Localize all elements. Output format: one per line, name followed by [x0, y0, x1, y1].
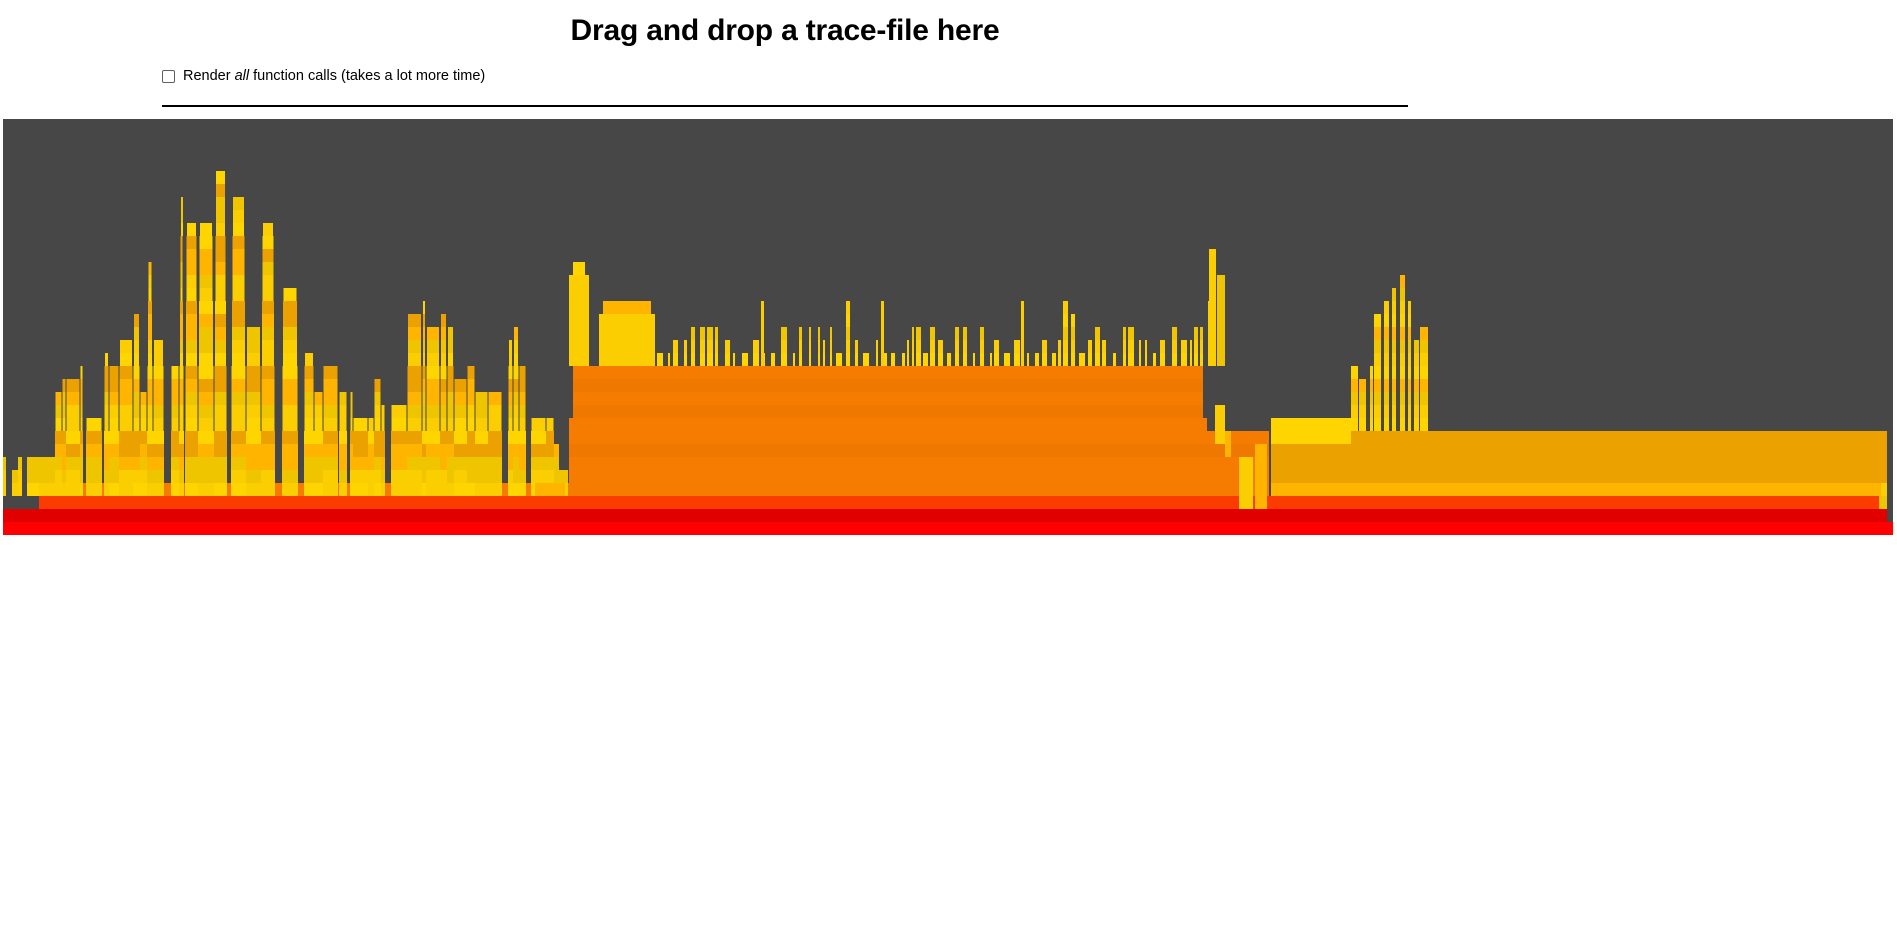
flame-frame[interactable]: [1200, 340, 1203, 353]
flame-frame[interactable]: [67, 392, 80, 405]
flame-frame[interactable]: [1408, 353, 1411, 366]
flame-frame[interactable]: [1400, 340, 1405, 353]
flame-frame[interactable]: [180, 418, 184, 431]
flame-frame[interactable]: [509, 405, 513, 418]
flame-frame[interactable]: [1359, 418, 1366, 431]
flame-frame[interactable]: [891, 353, 895, 366]
flame-frame[interactable]: [1384, 353, 1389, 366]
flame-frame[interactable]: [455, 379, 467, 392]
flame-frame[interactable]: [733, 353, 735, 366]
flame-frame[interactable]: [1400, 275, 1405, 288]
flame-frame[interactable]: [119, 457, 133, 470]
flame-frame[interactable]: [3, 509, 1887, 522]
flame-frame[interactable]: [3, 483, 6, 496]
flame-frame[interactable]: [62, 444, 66, 457]
flame-frame[interactable]: [3, 470, 6, 483]
flame-frame[interactable]: [1359, 405, 1366, 418]
flame-frame[interactable]: [339, 470, 347, 483]
flame-frame[interactable]: [1225, 431, 1231, 457]
flame-frame[interactable]: [799, 353, 802, 366]
flame-frame[interactable]: [426, 457, 440, 470]
flame-frame[interactable]: [1160, 353, 1165, 366]
flame-frame[interactable]: [247, 405, 261, 418]
flame-frame[interactable]: [105, 353, 108, 366]
flame-frame[interactable]: [684, 340, 687, 353]
flame-frame[interactable]: [186, 353, 197, 366]
flame-frame[interactable]: [448, 418, 454, 431]
flame-frame[interactable]: [216, 210, 225, 223]
flame-frame[interactable]: [923, 353, 928, 366]
flame-frame[interactable]: [1271, 444, 1887, 457]
flame-frame[interactable]: [1414, 366, 1419, 379]
flame-frame[interactable]: [232, 405, 246, 418]
flame-frame[interactable]: [262, 392, 275, 405]
flame-frame[interactable]: [1063, 301, 1068, 314]
flame-frame[interactable]: [930, 327, 935, 340]
flame-frame[interactable]: [324, 379, 338, 392]
flame-frame[interactable]: [141, 405, 147, 418]
flame-frame[interactable]: [930, 340, 935, 353]
flame-frame[interactable]: [314, 483, 323, 496]
flame-frame[interactable]: [381, 483, 385, 496]
flame-frame[interactable]: [109, 431, 119, 444]
flame-frame[interactable]: [140, 444, 147, 457]
flame-frame[interactable]: [353, 444, 368, 457]
flame-frame[interactable]: [368, 483, 374, 496]
flame-frame[interactable]: [62, 431, 66, 444]
flame-frame[interactable]: [180, 405, 184, 418]
flame-frame[interactable]: [134, 379, 140, 392]
flame-frame[interactable]: [315, 418, 323, 431]
flame-frame[interactable]: [62, 457, 66, 470]
flame-frame[interactable]: [916, 353, 921, 366]
flame-frame[interactable]: [392, 418, 407, 431]
flame-frame[interactable]: [1172, 340, 1177, 353]
flame-frame[interactable]: [1400, 418, 1405, 431]
flame-frame[interactable]: [1392, 327, 1396, 340]
flame-frame[interactable]: [181, 249, 183, 262]
flame-frame[interactable]: [247, 392, 261, 405]
flame-frame[interactable]: [392, 405, 407, 418]
flame-frame[interactable]: [141, 392, 147, 405]
flame-frame[interactable]: [475, 457, 488, 470]
flame-frame[interactable]: [323, 444, 338, 457]
flame-frame[interactable]: [314, 457, 323, 470]
flame-frame[interactable]: [180, 327, 183, 340]
flame-frame[interactable]: [532, 418, 546, 431]
flame-frame[interactable]: [324, 418, 338, 431]
flame-frame[interactable]: [186, 379, 198, 392]
flame-frame[interactable]: [455, 392, 467, 405]
flame-frame[interactable]: [282, 470, 298, 483]
flame-frame[interactable]: [423, 314, 425, 327]
flame-frame[interactable]: [154, 366, 164, 379]
flame-frame[interactable]: [171, 470, 179, 483]
flame-frame[interactable]: [1392, 353, 1396, 366]
flame-frame[interactable]: [180, 379, 184, 392]
flame-frame[interactable]: [232, 379, 246, 392]
flame-frame[interactable]: [902, 353, 905, 366]
flame-frame[interactable]: [1139, 353, 1141, 366]
flame-frame[interactable]: [1145, 340, 1147, 353]
flame-frame[interactable]: [1374, 405, 1381, 418]
flame-frame[interactable]: [86, 470, 102, 483]
flame-frame[interactable]: [508, 470, 513, 483]
flame-frame[interactable]: [1063, 353, 1068, 366]
flame-frame[interactable]: [569, 444, 1269, 457]
flame-frame[interactable]: [1400, 301, 1405, 314]
flame-frame[interactable]: [673, 353, 678, 366]
flame-frame[interactable]: [179, 470, 184, 483]
flame-frame[interactable]: [973, 353, 975, 366]
flame-frame[interactable]: [180, 314, 183, 327]
flame-frame[interactable]: [907, 340, 909, 353]
flame-frame[interactable]: [86, 444, 102, 457]
flame-frame[interactable]: [1408, 392, 1411, 405]
flame-frame[interactable]: [1071, 327, 1075, 340]
flame-frame[interactable]: [315, 392, 323, 405]
flame-frame[interactable]: [573, 405, 1203, 418]
flame-frame[interactable]: [324, 392, 338, 405]
flame-frame[interactable]: [1414, 405, 1419, 418]
flame-frame[interactable]: [66, 444, 80, 457]
flame-frame[interactable]: [422, 470, 426, 483]
flame-frame[interactable]: [1370, 366, 1373, 379]
flame-frame[interactable]: [1374, 366, 1381, 379]
flame-frame[interactable]: [447, 431, 454, 444]
flame-frame[interactable]: [1400, 379, 1405, 392]
flame-frame[interactable]: [1123, 340, 1126, 353]
flame-frame[interactable]: [955, 353, 959, 366]
flame-frame[interactable]: [1181, 340, 1187, 353]
flame-frame[interactable]: [216, 275, 226, 288]
flame-frame[interactable]: [1058, 340, 1061, 353]
flame-frame[interactable]: [742, 353, 748, 366]
flame-frame[interactable]: [1351, 405, 1358, 418]
flame-frame[interactable]: [855, 353, 858, 366]
flame-frame[interactable]: [63, 392, 66, 405]
flame-frame[interactable]: [547, 418, 554, 431]
flame-frame[interactable]: [700, 353, 705, 366]
flame-frame[interactable]: [408, 392, 422, 405]
flame-frame[interactable]: [423, 327, 425, 340]
flame-frame[interactable]: [246, 457, 261, 470]
flame-frame[interactable]: [374, 444, 381, 457]
flame-frame[interactable]: [1027, 353, 1029, 366]
flame-frame[interactable]: [818, 340, 820, 353]
flame-frame[interactable]: [375, 405, 381, 418]
flame-frame[interactable]: [247, 340, 260, 353]
flame-frame[interactable]: [147, 470, 153, 483]
flame-frame[interactable]: [187, 236, 197, 249]
flame-frame[interactable]: [1194, 327, 1198, 340]
flame-frame[interactable]: [216, 171, 225, 184]
flame-frame[interactable]: [381, 457, 385, 470]
flame-frame[interactable]: [1153, 353, 1156, 366]
flame-frame[interactable]: [427, 379, 440, 392]
flame-frame[interactable]: [368, 470, 374, 483]
flame-frame[interactable]: [440, 470, 447, 483]
flame-frame[interactable]: [1374, 392, 1381, 405]
flame-frame[interactable]: [1414, 340, 1419, 353]
flame-frame[interactable]: [1095, 340, 1100, 353]
flame-frame[interactable]: [519, 431, 526, 444]
flame-frame[interactable]: [391, 431, 407, 444]
flame-frame[interactable]: [282, 444, 298, 457]
flame-frame[interactable]: [468, 405, 475, 418]
flame-frame[interactable]: [180, 366, 184, 379]
flame-frame[interactable]: [282, 457, 298, 470]
flame-frame[interactable]: [963, 327, 967, 340]
flame-frame[interactable]: [199, 301, 213, 314]
flame-frame[interactable]: [199, 379, 214, 392]
flame-frame[interactable]: [467, 457, 475, 470]
flame-frame[interactable]: [440, 444, 447, 457]
flame-frame[interactable]: [368, 431, 374, 444]
flame-frame[interactable]: [1351, 366, 1358, 379]
flame-frame[interactable]: [846, 301, 850, 314]
flame-frame[interactable]: [1408, 418, 1411, 431]
flame-frame[interactable]: [284, 288, 297, 301]
flame-frame[interactable]: [519, 457, 526, 470]
flame-frame[interactable]: [353, 457, 368, 470]
flame-frame[interactable]: [938, 340, 943, 353]
flame-frame[interactable]: [246, 444, 261, 457]
flame-frame[interactable]: [186, 301, 197, 314]
flame-frame[interactable]: [509, 366, 513, 379]
flame-frame[interactable]: [427, 340, 439, 353]
flame-frame[interactable]: [185, 444, 198, 457]
flame-frame[interactable]: [133, 431, 140, 444]
flame-frame[interactable]: [707, 353, 713, 366]
flame-frame[interactable]: [200, 262, 213, 275]
flame-frame[interactable]: [215, 405, 227, 418]
flame-frame[interactable]: [104, 483, 109, 496]
flame-frame[interactable]: [263, 223, 273, 236]
flame-frame[interactable]: [231, 444, 246, 457]
flame-frame[interactable]: [809, 327, 811, 340]
flame-frame[interactable]: [282, 483, 298, 496]
flame-frame[interactable]: [199, 366, 214, 379]
flame-frame[interactable]: [468, 366, 475, 379]
flame-frame[interactable]: [185, 470, 198, 483]
flame-frame[interactable]: [55, 470, 62, 483]
flame-frame[interactable]: [573, 366, 1203, 379]
flame-frame[interactable]: [283, 353, 297, 366]
flame-frame[interactable]: [603, 301, 651, 314]
flame-frame[interactable]: [846, 353, 850, 366]
flame-frame[interactable]: [323, 483, 338, 496]
flame-frame[interactable]: [668, 353, 670, 366]
flame-frame[interactable]: [441, 379, 447, 392]
flame-frame[interactable]: [350, 457, 353, 470]
flame-frame[interactable]: [148, 353, 152, 366]
flame-frame[interactable]: [673, 340, 678, 353]
flame-frame[interactable]: [140, 483, 147, 496]
flame-frame[interactable]: [1420, 392, 1428, 405]
flame-frame[interactable]: [154, 353, 163, 366]
flame-frame[interactable]: [519, 483, 526, 496]
flame-frame[interactable]: [199, 327, 213, 340]
flame-frame[interactable]: [216, 262, 226, 275]
flame-frame[interactable]: [846, 327, 850, 340]
flame-frame[interactable]: [133, 483, 140, 496]
flame-frame[interactable]: [233, 236, 245, 249]
flame-frame[interactable]: [304, 444, 314, 457]
flame-frame[interactable]: [340, 418, 347, 431]
flame-frame[interactable]: [1255, 444, 1267, 509]
flame-frame[interactable]: [120, 392, 133, 405]
flame-frame[interactable]: [475, 483, 488, 496]
flame-frame[interactable]: [56, 418, 62, 431]
flame-frame[interactable]: [181, 288, 183, 301]
flame-frame[interactable]: [700, 327, 705, 340]
flame-frame[interactable]: [1370, 405, 1373, 418]
flame-frame[interactable]: [514, 392, 519, 405]
flame-frame[interactable]: [476, 392, 488, 405]
flame-frame[interactable]: [1079, 353, 1085, 366]
flame-frame[interactable]: [559, 470, 568, 483]
flame-frame[interactable]: [448, 327, 453, 340]
flame-frame[interactable]: [912, 340, 914, 353]
flame-frame[interactable]: [120, 418, 133, 431]
flame-frame[interactable]: [104, 470, 109, 483]
flame-frame[interactable]: [198, 444, 214, 457]
flame-frame[interactable]: [427, 392, 440, 405]
flame-frame[interactable]: [1400, 405, 1405, 418]
flame-frame[interactable]: [181, 210, 183, 223]
flame-frame[interactable]: [198, 431, 214, 444]
flame-frame[interactable]: [881, 301, 884, 366]
flame-frame[interactable]: [391, 457, 407, 470]
flame-frame[interactable]: [86, 431, 102, 444]
flame-frame[interactable]: [1384, 418, 1389, 431]
flame-frame[interactable]: [1392, 288, 1396, 301]
flame-frame[interactable]: [200, 223, 212, 236]
flame-frame[interactable]: [1408, 327, 1411, 340]
flame-frame[interactable]: [105, 392, 109, 405]
flame-frame[interactable]: [340, 392, 347, 405]
flame-frame[interactable]: [304, 483, 314, 496]
flame-frame[interactable]: [233, 223, 244, 236]
flame-frame[interactable]: [514, 405, 519, 418]
flame-frame[interactable]: [55, 444, 62, 457]
flame-frame[interactable]: [1128, 327, 1134, 340]
flame-frame[interactable]: [199, 353, 213, 366]
flame-frame[interactable]: [263, 262, 274, 275]
flame-frame[interactable]: [423, 353, 425, 366]
flame-frame[interactable]: [514, 418, 519, 431]
flame-frame[interactable]: [1384, 340, 1389, 353]
flame-frame[interactable]: [467, 470, 475, 483]
flame-frame[interactable]: [1088, 353, 1092, 366]
flame-frame[interactable]: [427, 418, 440, 431]
flame-frame[interactable]: [109, 457, 119, 470]
flame-frame[interactable]: [488, 483, 502, 496]
flame-frame[interactable]: [66, 483, 80, 496]
flame-frame[interactable]: [180, 392, 184, 405]
flame-frame[interactable]: [179, 444, 184, 457]
flame-frame[interactable]: [947, 353, 951, 366]
flame-frame[interactable]: [488, 457, 502, 470]
flame-frame[interactable]: [440, 431, 447, 444]
flame-frame[interactable]: [691, 353, 695, 366]
flame-frame[interactable]: [916, 340, 921, 353]
flame-frame[interactable]: [262, 418, 275, 431]
flame-frame[interactable]: [263, 288, 274, 301]
flame-frame[interactable]: [62, 470, 66, 483]
flame-frame[interactable]: [154, 379, 164, 392]
flame-frame[interactable]: [489, 392, 502, 405]
flame-frame[interactable]: [513, 457, 519, 470]
flame-frame[interactable]: [233, 275, 245, 288]
flame-frame[interactable]: [305, 353, 313, 366]
flame-frame[interactable]: [134, 340, 139, 353]
flame-frame[interactable]: [153, 483, 164, 496]
flame-frame[interactable]: [231, 457, 246, 470]
flame-frame[interactable]: [81, 366, 83, 379]
flame-frame[interactable]: [1400, 327, 1405, 340]
flame-frame[interactable]: [66, 457, 80, 470]
flame-frame[interactable]: [172, 405, 179, 418]
flame-frame[interactable]: [232, 301, 245, 314]
flame-frame[interactable]: [56, 405, 62, 418]
flame-frame[interactable]: [1351, 392, 1358, 405]
flame-frame[interactable]: [153, 470, 164, 483]
flame-frame[interactable]: [120, 379, 133, 392]
flame-frame[interactable]: [80, 457, 83, 470]
flame-frame[interactable]: [369, 418, 374, 431]
flame-frame[interactable]: [846, 340, 850, 353]
flame-frame[interactable]: [938, 353, 943, 366]
flame-frame[interactable]: [263, 275, 274, 288]
flame-frame[interactable]: [980, 327, 984, 340]
flame-frame[interactable]: [351, 392, 353, 405]
flame-frame[interactable]: [1271, 431, 1351, 444]
flame-frame[interactable]: [546, 431, 554, 444]
flame-frame[interactable]: [440, 483, 447, 496]
flame-frame[interactable]: [569, 470, 1269, 483]
flame-frame[interactable]: [350, 483, 353, 496]
flame-frame[interactable]: [147, 431, 153, 444]
flame-frame[interactable]: [422, 483, 426, 496]
flame-frame[interactable]: [214, 470, 227, 483]
flame-frame[interactable]: [1384, 327, 1389, 340]
flame-frame[interactable]: [315, 405, 323, 418]
flame-frame[interactable]: [339, 483, 347, 496]
flame-frame[interactable]: [855, 340, 858, 353]
flame-frame[interactable]: [408, 379, 422, 392]
flame-frame[interactable]: [1172, 327, 1177, 340]
flame-frame[interactable]: [27, 470, 39, 483]
flame-frame[interactable]: [200, 288, 213, 301]
flame-frame[interactable]: [18, 470, 22, 483]
flame-frame[interactable]: [263, 249, 274, 262]
flame-frame[interactable]: [375, 418, 381, 431]
flame-frame[interactable]: [233, 197, 244, 210]
flame-frame[interactable]: [304, 431, 314, 444]
flame-frame[interactable]: [657, 353, 663, 366]
flame-frame[interactable]: [391, 483, 407, 496]
flame-frame[interactable]: [599, 314, 655, 366]
flame-frame[interactable]: [1042, 353, 1047, 366]
flame-frame[interactable]: [569, 431, 1269, 444]
flame-frame[interactable]: [172, 379, 179, 392]
flame-frame[interactable]: [105, 366, 109, 379]
flame-frame[interactable]: [467, 431, 475, 444]
flame-frame[interactable]: [56, 392, 62, 405]
flame-frame[interactable]: [391, 470, 407, 483]
